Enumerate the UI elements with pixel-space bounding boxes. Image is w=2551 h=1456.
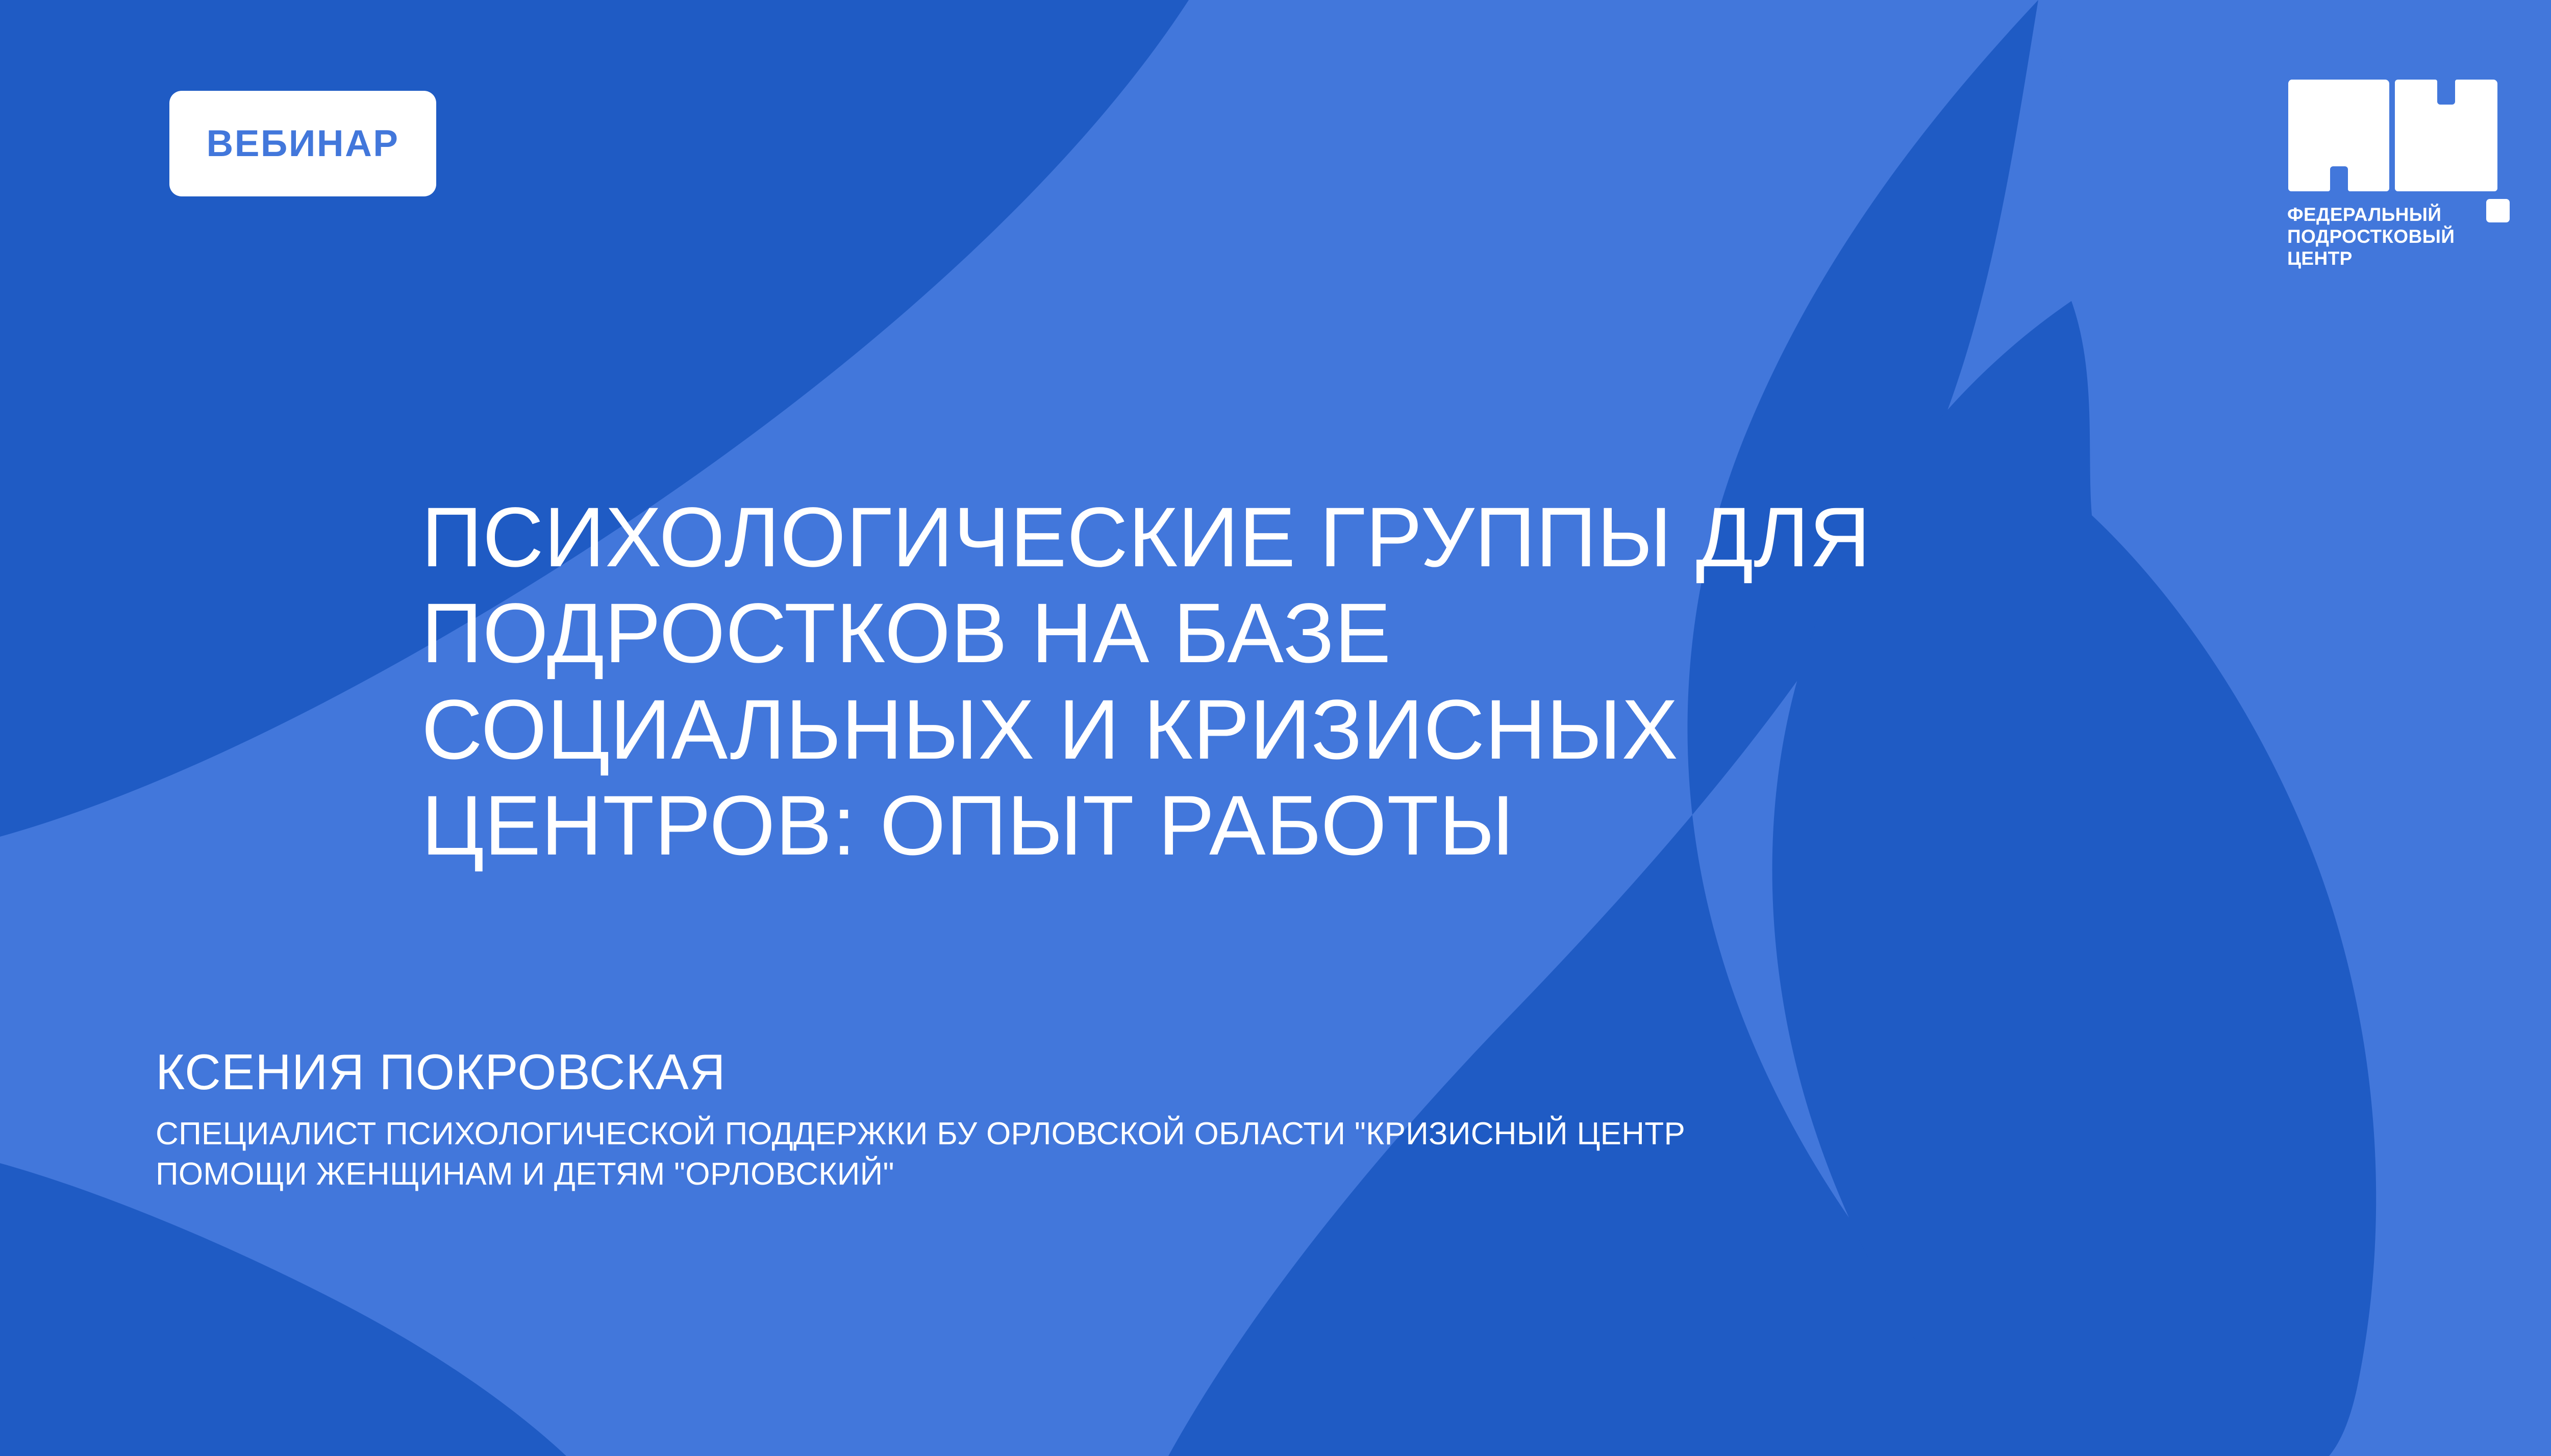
monogram-accent-square-icon bbox=[2486, 199, 2551, 225]
slide-title-line-1: ПСИХОЛОГИЧЕСКИЕ ГРУППЫ ДЛЯ bbox=[421, 490, 2309, 586]
speaker-name: КСЕНИЯ ПОКРОВСКАЯ bbox=[156, 1046, 2400, 1098]
webinar-badge: ВЕБИНАР bbox=[169, 91, 436, 196]
organization-logo: ФЕДЕРАЛЬНЫЙ ПОДРОСТКОВЫЙ ЦЕНТР bbox=[2287, 77, 2527, 270]
slide-title-line-3: СОЦИАЛЬНЫХ И КРИЗИСНЫХ bbox=[421, 682, 2309, 778]
slide-title-line-4: ЦЕНТРОВ: ОПЫТ РАБОТЫ bbox=[421, 778, 2309, 874]
logo-wordmark-line-3: ЦЕНТР bbox=[2287, 248, 2527, 270]
federal-teen-center-monogram-icon bbox=[2287, 77, 2510, 195]
speaker-block: КСЕНИЯ ПОКРОВСКАЯ СПЕЦИАЛИСТ ПСИХОЛОГИЧЕ… bbox=[156, 1046, 2400, 1195]
webinar-badge-label: ВЕБИНАР bbox=[207, 125, 399, 162]
webinar-title-slide: ВЕБИНАР ФЕДЕРАЛЬНЫЙ ПОДРОСТКОВЫЙ ЦЕНТР П… bbox=[0, 0, 2551, 1456]
speaker-role-line-2: ПОМОЩИ ЖЕНЩИНАМ И ДЕТЯМ "ОРЛОВСКИЙ" bbox=[156, 1154, 2400, 1194]
slide-title: ПСИХОЛОГИЧЕСКИЕ ГРУППЫ ДЛЯ ПОДРОСТКОВ НА… bbox=[421, 490, 2309, 874]
speaker-role: СПЕЦИАЛИСТ ПСИХОЛОГИЧЕСКОЙ ПОДДЕРЖКИ БУ … bbox=[156, 1114, 2400, 1195]
logo-wordmark-line-2: ПОДРОСТКОВЫЙ bbox=[2287, 226, 2527, 248]
speaker-role-line-1: СПЕЦИАЛИСТ ПСИХОЛОГИЧЕСКОЙ ПОДДЕРЖКИ БУ … bbox=[156, 1114, 2400, 1154]
slide-title-line-2: ПОДРОСТКОВ НА БАЗЕ bbox=[421, 586, 2309, 682]
